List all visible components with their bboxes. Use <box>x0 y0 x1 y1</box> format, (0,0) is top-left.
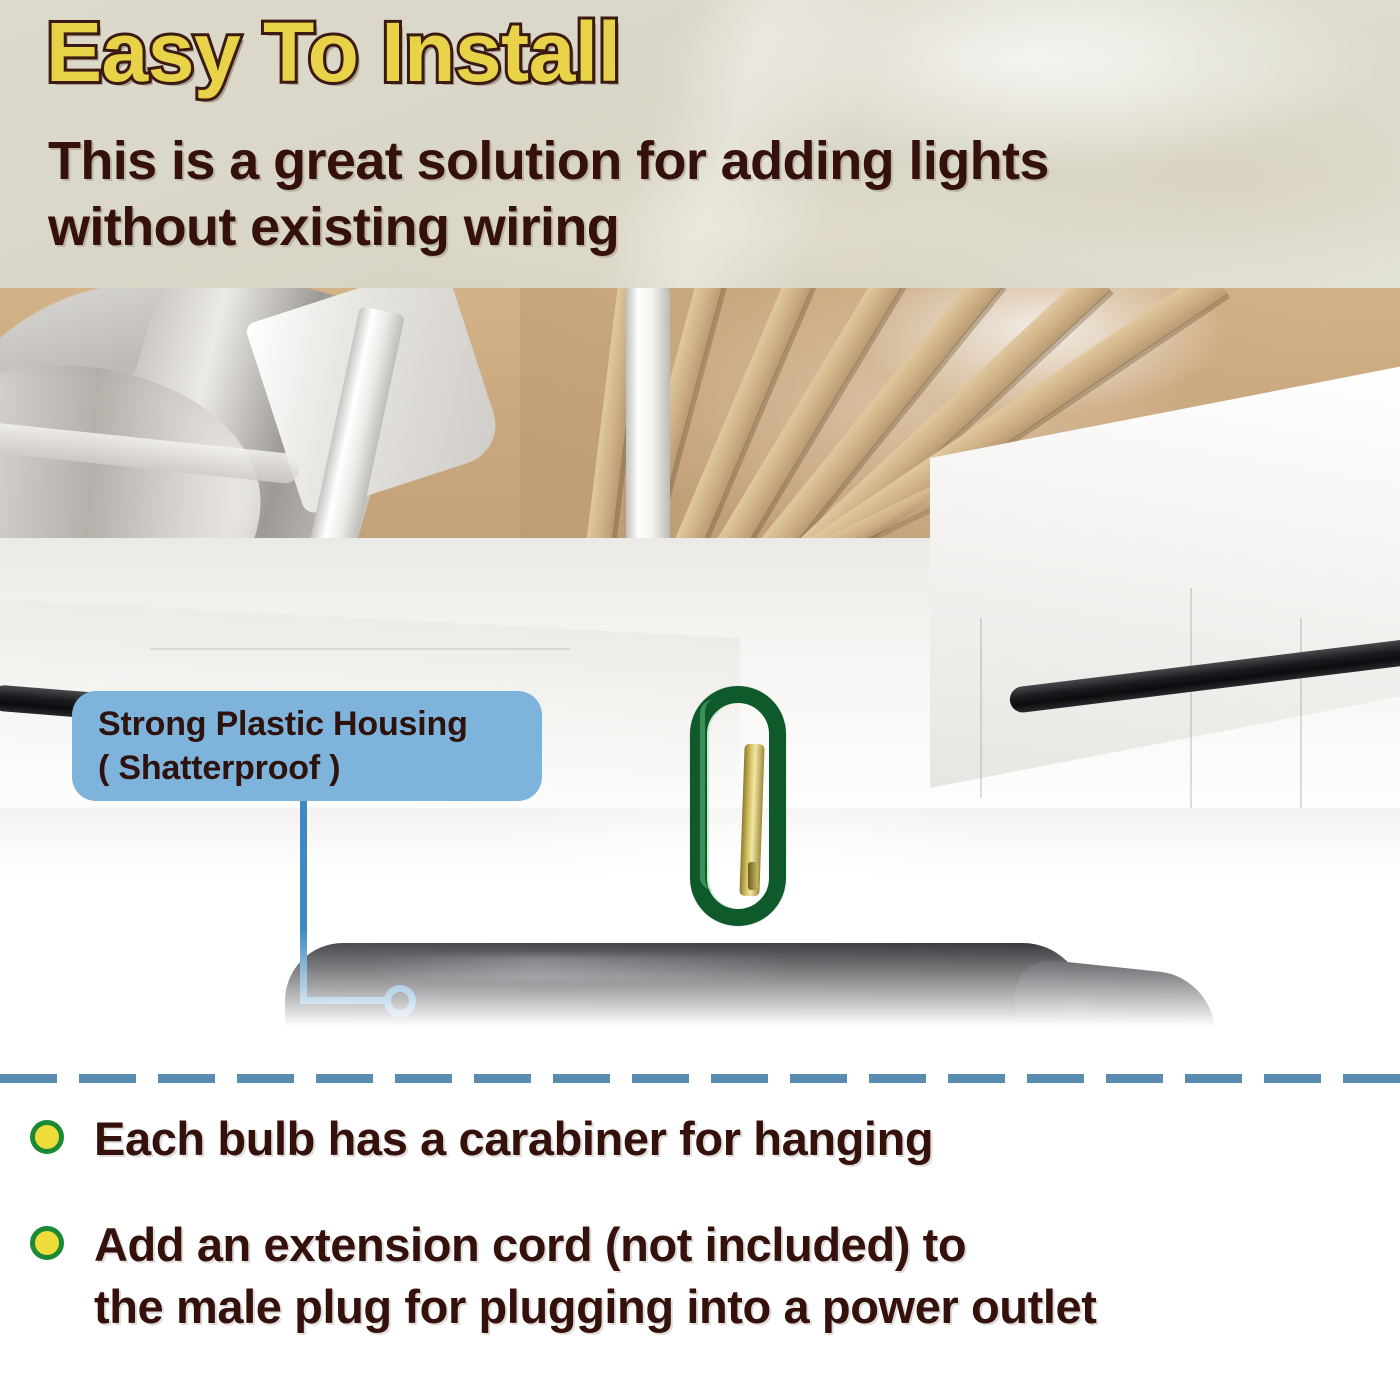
callout-line-2: ( Shatterproof ) <box>98 746 516 790</box>
bullet-text-2: Add an extension cord (not included) to … <box>94 1214 1097 1338</box>
bullet-2-line-2: the male plug for plugging into a power … <box>94 1276 1097 1338</box>
list-item: Add an extension cord (not included) to … <box>0 1214 1400 1338</box>
infographic-page: Easy To Install This is a great solution… <box>0 0 1400 1400</box>
callout-line-1: Strong Plastic Housing <box>98 702 516 746</box>
feature-bullet-list: Each bulb has a carabiner for hanging Ad… <box>0 1108 1400 1382</box>
header-banner: Easy To Install This is a great solution… <box>0 0 1400 288</box>
subtitle-line-2: without existing wiring <box>48 194 1228 260</box>
sheeting-crease-2 <box>1300 618 1302 818</box>
page-subtitle: This is a great solution for adding ligh… <box>48 128 1228 260</box>
list-item: Each bulb has a carabiner for hanging <box>0 1108 1400 1170</box>
bullet-2-line-1: Add an extension cord (not included) to <box>94 1214 1097 1276</box>
sheeting-crease-4 <box>150 648 570 650</box>
product-photo: Strong Plastic Housing ( Shatterproof ) <box>0 288 1400 1048</box>
sheeting-crease-1 <box>1190 588 1192 818</box>
callout-strong-plastic-housing: Strong Plastic Housing ( Shatterproof ) <box>72 691 542 801</box>
bullet-marker-icon <box>30 1120 64 1154</box>
page-title: Easy To Install <box>46 4 620 100</box>
dashed-divider <box>0 1074 1400 1083</box>
bullet-text-1: Each bulb has a carabiner for hanging <box>94 1108 933 1170</box>
bullet-marker-icon <box>30 1226 64 1260</box>
photo-bottom-fade <box>0 928 1400 1048</box>
carabiner-icon <box>690 686 800 936</box>
subtitle-line-1: This is a great solution for adding ligh… <box>48 128 1228 194</box>
bullet-1-line-1: Each bulb has a carabiner for hanging <box>94 1108 933 1170</box>
sheeting-crease-3 <box>980 618 982 798</box>
